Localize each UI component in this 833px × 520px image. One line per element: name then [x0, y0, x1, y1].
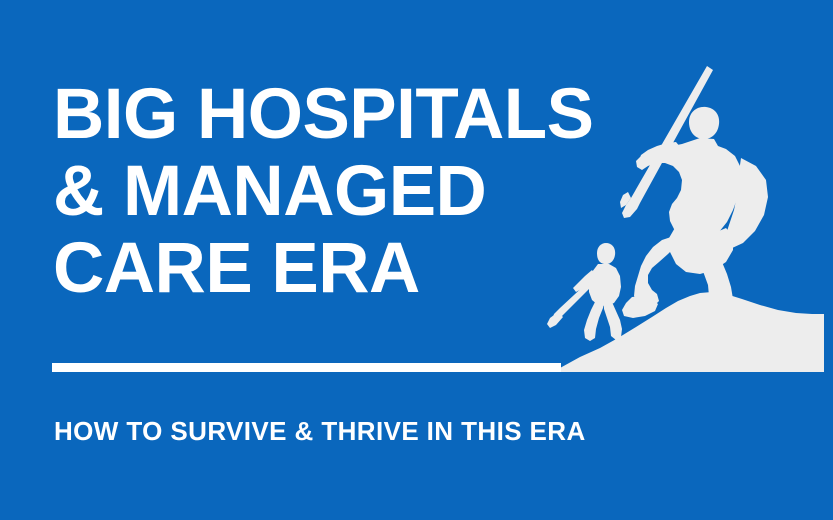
- headline-line-1: BIG HOSPITALS: [53, 76, 653, 153]
- subtitle: HOW TO SURVIVE & THRIVE IN THIS ERA: [54, 416, 586, 446]
- warrior-rear-leg: [700, 252, 733, 322]
- warrior-head: [689, 107, 719, 139]
- headline-line-2: & MANAGED: [53, 153, 653, 230]
- shield-icon: [724, 158, 768, 249]
- warrior-hips: [669, 226, 733, 274]
- climber-staff-tip-icon: [547, 312, 563, 328]
- headline-line-3: CARE ERA: [53, 230, 653, 307]
- page-title: BIG HOSPITALS & MANAGED CARE ERA: [53, 76, 653, 307]
- climber-rear-leg: [604, 302, 622, 340]
- horizontal-rule: [52, 363, 561, 372]
- slide-canvas: BIG HOSPITALS & MANAGED CARE ERA HOW TO …: [0, 0, 833, 520]
